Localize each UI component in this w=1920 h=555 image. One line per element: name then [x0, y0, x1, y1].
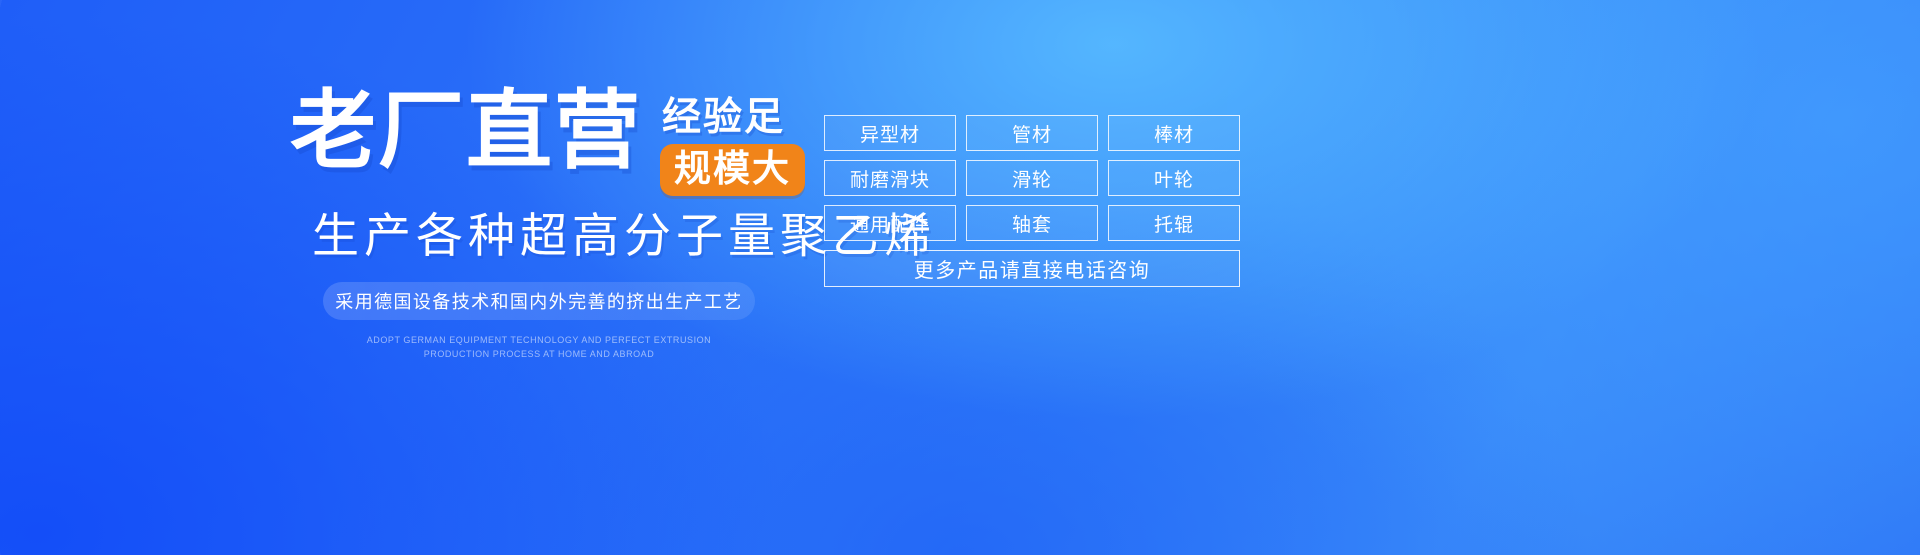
hero-banner: 老厂直营 经验足 规模大 生产各种超高分子量聚乙烯 采用德国设备技术和国内外完善… [0, 0, 1920, 555]
product-category-panel: 异型材 管材 棒材 耐磨滑块 滑轮 叶轮 通用配件 轴套 托辊 更多产品请直接电… [824, 115, 1240, 287]
hero-english-caption: ADOPT GERMAN EQUIPMENT TECHNOLOGY AND PE… [323, 334, 755, 362]
product-button-bangcai[interactable]: 棒材 [1108, 115, 1240, 151]
product-button-tongyongpeijian[interactable]: 通用配件 [824, 205, 956, 241]
product-button-yixingcai[interactable]: 异型材 [824, 115, 956, 151]
english-caption-line-1: ADOPT GERMAN EQUIPMENT TECHNOLOGY AND PE… [323, 334, 755, 348]
hero-tagline-bar: 采用德国设备技术和国内外完善的挤出生产工艺 [323, 282, 755, 320]
product-button-zhoutao[interactable]: 轴套 [966, 205, 1098, 241]
english-caption-line-2: PRODUCTION PROCESS AT HOME AND ABROAD [323, 348, 755, 362]
product-button-hualun[interactable]: 滑轮 [966, 160, 1098, 196]
product-button-tuogun[interactable]: 托辊 [1108, 205, 1240, 241]
badge-scale: 规模大 [660, 144, 805, 196]
headline-badges: 经验足 规模大 [660, 88, 805, 196]
badge-experience: 经验足 [660, 98, 805, 137]
headline-title: 老厂直营 [290, 88, 642, 174]
product-button-yelun[interactable]: 叶轮 [1108, 160, 1240, 196]
more-products-cta-button[interactable]: 更多产品请直接电话咨询 [824, 250, 1240, 287]
product-button-grid: 异型材 管材 棒材 耐磨滑块 滑轮 叶轮 通用配件 轴套 托辊 [824, 115, 1240, 241]
hero-tagline-text: 采用德国设备技术和国内外完善的挤出生产工艺 [335, 288, 742, 314]
product-button-naimohuakuai[interactable]: 耐磨滑块 [824, 160, 956, 196]
product-button-guancai[interactable]: 管材 [966, 115, 1098, 151]
